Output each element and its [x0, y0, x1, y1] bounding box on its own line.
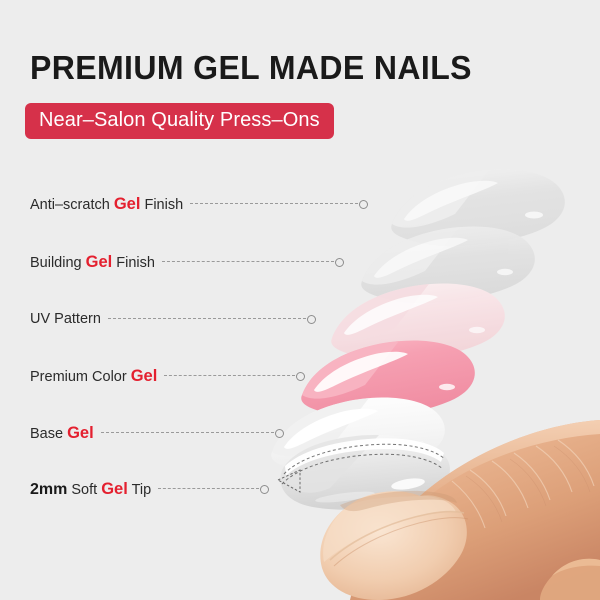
leader-line [162, 261, 334, 263]
callout-label: UV Pattern [30, 309, 101, 329]
anti-scratch-gel-finish-layer [391, 169, 565, 246]
callout-anti-scratch-gel-finish: Anti–scratch Gel Finish [30, 194, 368, 214]
finger-photo [320, 420, 600, 600]
callout-label: Premium Color Gel [30, 366, 157, 387]
leader-line [158, 488, 259, 490]
building-gel-finish-layer [361, 226, 535, 303]
page-title: PREMIUM GEL MADE NAILS [30, 49, 472, 87]
subtitle-badge: Near–Salon Quality Press–Ons [25, 103, 334, 139]
callout-label: Anti–scratch Gel Finish [30, 194, 183, 215]
callout-label: Base Gel [30, 423, 94, 444]
base-gel-layer [271, 397, 445, 474]
callout-uv-pattern: UV Pattern [30, 309, 316, 329]
uv-pattern-layer [331, 283, 505, 360]
callout-label: 2mm Soft Gel Tip [30, 479, 151, 500]
leader-endpoint-marker [260, 485, 269, 494]
exploded-nail-layer-diagram [0, 0, 600, 600]
premium-color-gel-layer [301, 340, 475, 417]
callout-base-gel: Base Gel [30, 423, 284, 443]
soft-gel-tip-layer [278, 435, 450, 510]
leader-endpoint-marker [335, 258, 344, 267]
leader-endpoint-marker [307, 315, 316, 324]
callout-label: Building Gel Finish [30, 252, 155, 273]
leader-line [101, 432, 274, 434]
product-infographic: PREMIUM GEL MADE NAILS Near–Salon Qualit… [0, 0, 600, 600]
callout-building-gel-finish: Building Gel Finish [30, 252, 344, 272]
callout-2mm-soft-gel-tip: 2mm Soft Gel Tip [30, 479, 269, 499]
leader-endpoint-marker [296, 372, 305, 381]
leader-line [108, 318, 306, 320]
leader-line [190, 203, 358, 205]
callout-premium-color-gel: Premium Color Gel [30, 366, 305, 386]
leader-endpoint-marker [359, 200, 368, 209]
leader-line [164, 375, 295, 377]
leader-endpoint-marker [275, 429, 284, 438]
